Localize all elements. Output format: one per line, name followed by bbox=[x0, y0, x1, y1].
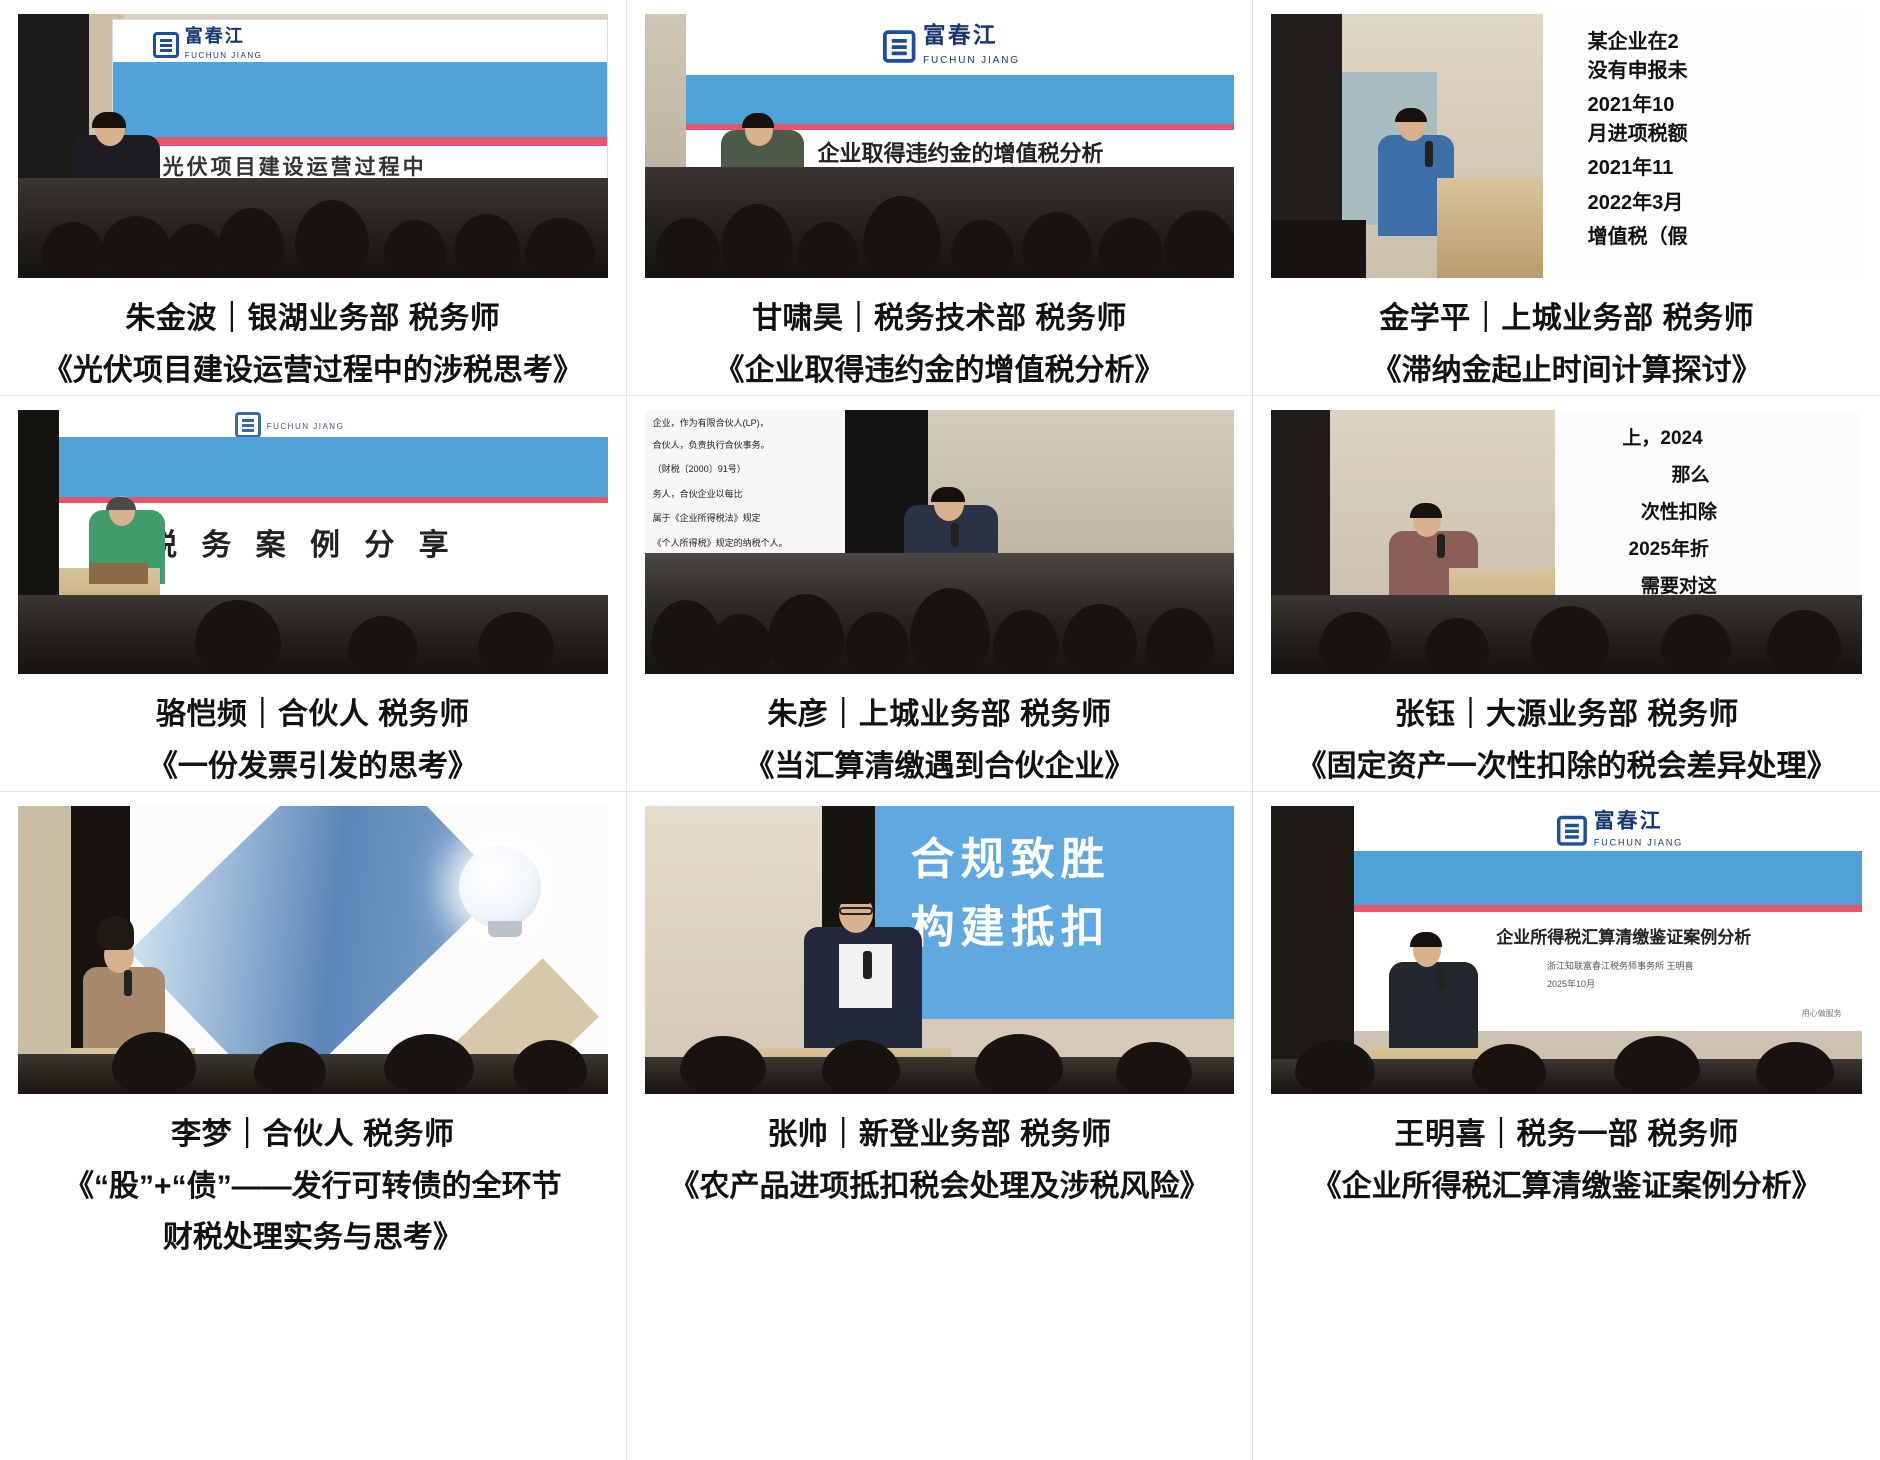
caption-2: 甘啸昊｜税务技术部 税务师 《企业取得违约金的增值税分析》 bbox=[645, 278, 1235, 393]
slide-line-8-0: 合规致胜 bbox=[911, 823, 1111, 887]
card-1[interactable]: 富春江 FUCHUN JIANG 光伏项目建设运营过程中 bbox=[0, 0, 627, 396]
photo-7 bbox=[18, 806, 608, 1094]
caption-8: 张帅｜新登业务部 税务师 《农产品进项抵扣税会处理及涉税风险》 bbox=[645, 1094, 1235, 1209]
slide-sub-9: 浙江知联富春江税务师事务所 王明喜 bbox=[1547, 959, 1694, 972]
slide-heading-4: 税 务 案 例 分 享 bbox=[147, 520, 457, 564]
slide-line-3-4: 2021年11 bbox=[1588, 151, 1674, 180]
brand-cn: 富春江 bbox=[1594, 809, 1663, 832]
slide-line-3-2: 2021年10 bbox=[1588, 88, 1675, 117]
speaker-2: 甘啸昊｜税务技术部 税务师 bbox=[645, 296, 1235, 342]
slide-line-3-1: 没有申报未 bbox=[1588, 54, 1688, 83]
fuchunjiang-logo-icon bbox=[153, 32, 179, 58]
slide-line-3-6: 增值税（假 bbox=[1588, 220, 1688, 249]
fuchunjiang-logo-icon bbox=[1557, 816, 1587, 846]
topic-2: 《企业取得违约金的增值税分析》 bbox=[645, 348, 1235, 394]
card-9[interactable]: 富春江 FUCHUN JIANG 企业所得税汇算清缴鉴证案例分析 浙江知联富春江… bbox=[1253, 792, 1880, 1460]
photo-5: 企业，作为有限合伙人(LP)， 合伙人，负责执行合伙事务。 （财税〔2000〕9… bbox=[645, 410, 1235, 674]
caption-1: 朱金波｜银湖业务部 税务师 《光伏项目建设运营过程中的涉税思考》 bbox=[18, 278, 608, 393]
photo-2: 富春江 FUCHUN JIANG 企业取得违约金的增值税分析 主讲人：甘啸昊 bbox=[645, 14, 1235, 278]
topic-5: 《当汇算清缴遇到合伙企业》 bbox=[645, 744, 1235, 790]
slide-line-6-2: 次性扣除 bbox=[1641, 497, 1717, 524]
slide-heading-9: 企业所得税汇算清缴鉴证案例分析 bbox=[1496, 923, 1751, 948]
card-4[interactable]: FUCHUN JIANG 税 务 案 例 分 享 骆恺频｜合伙人 税务师 《 bbox=[0, 396, 627, 792]
photo-8: 合规致胜 构建抵扣 bbox=[645, 806, 1235, 1094]
caption-9: 王明喜｜税务一部 税务师 《企业所得税汇算清缴鉴证案例分析》 bbox=[1271, 1094, 1862, 1209]
topic-4: 《一份发票引发的思考》 bbox=[18, 744, 608, 790]
speaker-1: 朱金波｜银湖业务部 税务师 bbox=[18, 296, 608, 342]
slide-heading-1: 光伏项目建设运营过程中 bbox=[163, 151, 427, 181]
speaker-3: 金学平｜上城业务部 税务师 bbox=[1271, 296, 1862, 342]
fuchunjiang-logo-icon bbox=[883, 29, 916, 62]
lightbulb-icon bbox=[459, 846, 541, 928]
slide-line-5-5: 《个人所得税》规定的纳税个人。 bbox=[653, 536, 788, 549]
caption-6: 张钰｜大源业务部 税务师 《固定资产一次性扣除的税会差异处理》 bbox=[1271, 674, 1862, 789]
card-5[interactable]: 企业，作为有限合伙人(LP)， 合伙人，负责执行合伙事务。 （财税〔2000〕9… bbox=[627, 396, 1254, 792]
speaker-6: 张钰｜大源业务部 税务师 bbox=[1271, 692, 1862, 738]
speaker-8: 张帅｜新登业务部 税务师 bbox=[645, 1112, 1235, 1158]
slide-line-6-0: 上，2024 bbox=[1622, 423, 1702, 450]
slide-line-8-1: 构建抵扣 bbox=[911, 891, 1111, 955]
speaker-4: 骆恺频｜合伙人 税务师 bbox=[18, 692, 608, 738]
speaker-5: 朱彦｜上城业务部 税务师 bbox=[645, 692, 1235, 738]
slide-line-5-3: 务人，合伙企业以每比 bbox=[653, 487, 743, 500]
photo-6: 上，2024 那么 次性扣除 2025年折 需要对这 所以《关 bbox=[1271, 410, 1862, 674]
brand-cn: 富春江 bbox=[923, 22, 998, 47]
slide-foot-9: 用心做服务 bbox=[1802, 1008, 1842, 1019]
slide-line-3-0: 某企业在2 bbox=[1588, 25, 1679, 54]
brand-en: FUCHUN JIANG bbox=[1594, 838, 1683, 848]
slide-line-5-2: （财税〔2000〕91号） bbox=[653, 462, 746, 475]
slide-line-6-1: 那么 bbox=[1672, 460, 1710, 487]
slide-line-5-1: 合伙人，负责执行合伙事务。 bbox=[653, 438, 770, 451]
glasses-icon bbox=[839, 907, 873, 915]
topic-7-line2: 财税处理实务与思考》 bbox=[18, 1215, 608, 1261]
photo-3: 某企业在2 没有申报未 2021年10 月进项税额 2021年11 2022年3… bbox=[1271, 14, 1862, 278]
caption-7: 李梦｜合伙人 税务师 《“股”+“债”——发行可转债的全环节 财税处理实务与思考… bbox=[18, 1094, 608, 1261]
slide-line-6-3: 2025年折 bbox=[1629, 534, 1709, 561]
slide-sub2-9: 2025年10月 bbox=[1547, 977, 1595, 990]
topic-9: 《企业所得税汇算清缴鉴证案例分析》 bbox=[1271, 1164, 1862, 1210]
topic-6: 《固定资产一次性扣除的税会差异处理》 bbox=[1271, 744, 1862, 790]
topic-8: 《农产品进项抵扣税会处理及涉税风险》 bbox=[645, 1164, 1235, 1210]
caption-5: 朱彦｜上城业务部 税务师 《当汇算清缴遇到合伙企业》 bbox=[645, 674, 1235, 789]
card-3[interactable]: 某企业在2 没有申报未 2021年10 月进项税额 2021年11 2022年3… bbox=[1253, 0, 1880, 396]
topic-3: 《滞纳金起止时间计算探讨》 bbox=[1271, 348, 1862, 394]
topic-7-line1: 《“股”+“债”——发行可转债的全环节 bbox=[18, 1164, 608, 1210]
card-2[interactable]: 富春江 FUCHUN JIANG 企业取得违约金的增值税分析 主讲人：甘啸昊 bbox=[627, 0, 1254, 396]
photo-1: 富春江 FUCHUN JIANG 光伏项目建设运营过程中 bbox=[18, 14, 608, 278]
photo-9: 富春江 FUCHUN JIANG 企业所得税汇算清缴鉴证案例分析 浙江知联富春江… bbox=[1271, 806, 1862, 1094]
photo-grid: 富春江 FUCHUN JIANG 光伏项目建设运营过程中 bbox=[0, 0, 1880, 1460]
brand-cn: 富春江 bbox=[185, 26, 245, 46]
speaker-7: 李梦｜合伙人 税务师 bbox=[18, 1112, 608, 1158]
slide-line-5-4: 属于《企业所得税法》规定 bbox=[653, 511, 761, 524]
speaker-9: 王明喜｜税务一部 税务师 bbox=[1271, 1112, 1862, 1158]
brand-en: FUCHUN JIANG bbox=[267, 422, 345, 431]
slide-line-3-3: 月进项税额 bbox=[1588, 117, 1688, 146]
photo-4: FUCHUN JIANG 税 务 案 例 分 享 bbox=[18, 410, 608, 674]
brand-en: FUCHUN JIANG bbox=[185, 51, 263, 60]
slide-heading-2: 企业取得违约金的增值税分析 bbox=[818, 136, 1104, 168]
slide-line-3-5: 2022年3月 bbox=[1588, 186, 1684, 215]
topic-1: 《光伏项目建设运营过程中的涉税思考》 bbox=[18, 348, 608, 394]
card-7[interactable]: 李梦｜合伙人 税务师 《“股”+“债”——发行可转债的全环节 财税处理实务与思考… bbox=[0, 792, 627, 1460]
card-8[interactable]: 合规致胜 构建抵扣 张帅｜新登业务部 税务师 《农产品进项抵扣税会处理及涉税风险… bbox=[627, 792, 1254, 1460]
caption-3: 金学平｜上城业务部 税务师 《滞纳金起止时间计算探讨》 bbox=[1271, 278, 1862, 393]
caption-4: 骆恺频｜合伙人 税务师 《一份发票引发的思考》 bbox=[18, 674, 608, 789]
brand-en: FUCHUN JIANG bbox=[923, 54, 1020, 65]
card-6[interactable]: 上，2024 那么 次性扣除 2025年折 需要对这 所以《关 bbox=[1253, 396, 1880, 792]
slide-line-5-0: 企业，作为有限合伙人(LP)， bbox=[653, 416, 769, 429]
fuchunjiang-logo-icon bbox=[235, 412, 261, 438]
